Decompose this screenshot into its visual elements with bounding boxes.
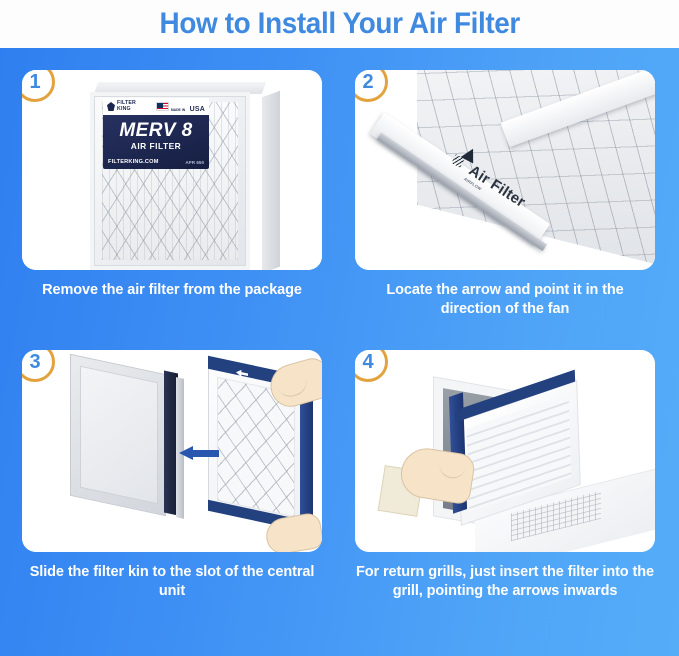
header-bar: How to Install Your Air Filter: [0, 0, 679, 48]
arrow-shaft: [191, 450, 219, 457]
usa-flag-icon: [156, 102, 169, 111]
step-4-caption: For return grills, just insert the filte…: [355, 563, 655, 602]
made-in-text: MADE IN: [171, 108, 185, 112]
merv-rating: MERV 8: [103, 120, 209, 142]
step-1: FILTER KING MADE IN USA: [22, 70, 322, 300]
brand-line-2: KING: [117, 106, 131, 112]
made-in-usa-badge: MADE IN USA: [156, 98, 205, 116]
air-filter-front-photo: FILTER KING MADE IN USA: [22, 70, 322, 270]
step-3: 3 Slide the filter kin to the slot of th…: [22, 350, 322, 602]
label-subtitle: AIR FILTER: [103, 141, 209, 151]
infographic-page: How to Install Your Air Filter: [0, 0, 679, 656]
product-code-text: APR 650: [185, 160, 204, 165]
step-3-card: 3: [22, 350, 322, 552]
crown-icon: [107, 102, 115, 111]
step-4-card: 4: [355, 350, 655, 552]
made-in-usa-text: MADE IN USA: [171, 98, 205, 116]
steps-grid: FILTER KING MADE IN USA: [0, 48, 679, 656]
step-2-card: Air Filter AIRFLOW 2: [355, 70, 655, 270]
product-label-footer: FILTERKING.COM APR 650: [108, 159, 204, 165]
step-2-caption: Locate the arrow and point it in the dir…: [355, 281, 655, 320]
air-filter-product: FILTER KING MADE IN USA: [90, 82, 266, 270]
step-4: 4 For return grills, just insert the fil…: [355, 350, 655, 602]
step-1-caption: Remove the air filter from the package: [22, 281, 322, 300]
step-2: Air Filter AIRFLOW 2 Locate the arrow an…: [355, 70, 655, 320]
air-filter-corner-photo: Air Filter AIRFLOW: [355, 70, 655, 270]
central-unit-panel: [80, 366, 158, 505]
step-3-caption: Slide the filter kin to the slot of the …: [22, 563, 322, 602]
brand-name: FILTER KING: [117, 101, 136, 112]
arrow-head: [179, 446, 193, 460]
website-text: FILTERKING.COM: [108, 159, 159, 165]
return-grill-illustration: [355, 350, 655, 552]
usa-text: USA: [190, 106, 205, 113]
product-label: FILTER KING MADE IN USA: [103, 98, 209, 169]
filter-king-logo: FILTER KING: [107, 101, 136, 112]
slide-direction-arrow-icon: [179, 446, 219, 460]
steps-background: FILTER KING MADE IN USA: [0, 48, 679, 656]
page-title: How to Install Your Air Filter: [159, 7, 519, 41]
product-label-header: FILTER KING MADE IN USA: [103, 98, 209, 115]
filter-side-edge: [262, 91, 280, 270]
slide-filter-illustration: [22, 350, 322, 552]
step-1-card: FILTER KING MADE IN USA: [22, 70, 322, 270]
